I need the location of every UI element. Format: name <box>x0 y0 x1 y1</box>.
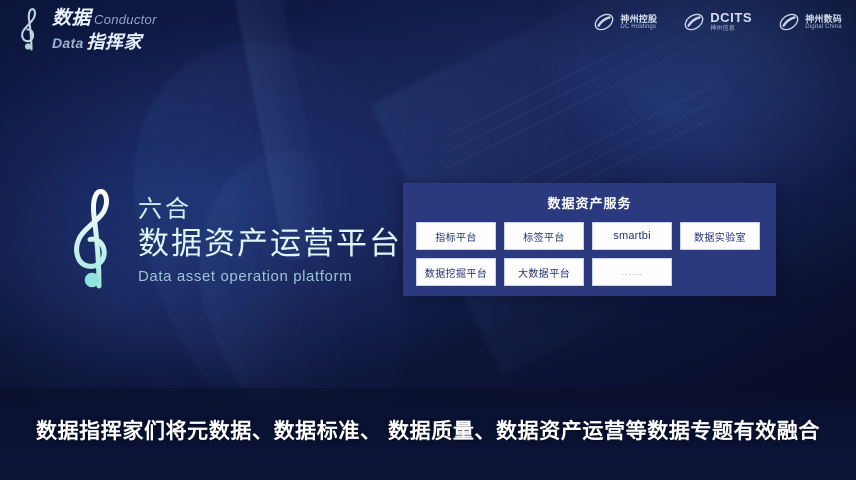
brand-en-bottom: Data <box>52 36 84 50</box>
partner-name-cn: 神州数码 <box>805 14 842 24</box>
treble-clef-icon <box>14 6 48 52</box>
partner-logo-text: DCITS 神州信息 <box>710 11 752 32</box>
hero-title-block: 六合 数据资产运营平台 Data asset operation platfor… <box>66 186 402 294</box>
treble-clef-icon <box>66 186 128 294</box>
service-tile[interactable]: 大数据平台 <box>504 258 584 286</box>
swoosh-icon <box>593 11 615 33</box>
brand-line-1: 数据 Conductor <box>52 9 157 28</box>
hero-text: 六合 数据资产运营平台 Data asset operation platfor… <box>138 195 402 285</box>
partner-name-en: Digital China <box>805 24 842 31</box>
hero-line-1: 六合 <box>138 195 402 224</box>
partner-name-en: 神州信息 <box>710 26 752 33</box>
slide-caption: 数据指挥家们将元数据、数据标准、 数据质量、数据资产运营等数据专题有效融合 <box>0 415 856 445</box>
service-tile[interactable]: 数据实验室 <box>680 222 760 250</box>
partner-name-cn: 神州控股 <box>620 14 657 24</box>
presentation-slide: 数据 Conductor Data 指挥家 神州控股 DC Holdings <box>0 0 856 480</box>
brand-cn-bottom: 指挥家 <box>87 33 143 51</box>
brand-en-top: Conductor <box>94 13 157 26</box>
swoosh-icon <box>683 11 705 33</box>
brand-line-2: Data 指挥家 <box>52 33 157 51</box>
partner-name-cn: DCITS <box>710 11 752 26</box>
service-tile[interactable]: 标签平台 <box>504 222 584 250</box>
brand-logo: 数据 Conductor Data 指挥家 <box>14 6 157 52</box>
partner-logo-group: 神州控股 DC Holdings DCITS 神州信息 <box>593 11 842 33</box>
service-tile[interactable]: 指标平台 <box>416 222 496 250</box>
brand-wordmark: 数据 Conductor Data 指挥家 <box>52 7 157 51</box>
hero-line-2: 数据资产运营平台 <box>138 225 402 263</box>
service-tile-more[interactable]: ...... <box>592 258 672 286</box>
data-asset-service-panel: 数据资产服务 指标平台 标签平台 smartbi 数据实验室 数据挖掘平台 大数… <box>403 183 776 296</box>
swoosh-icon <box>778 11 800 33</box>
service-tile-grid: 指标平台 标签平台 smartbi 数据实验室 数据挖掘平台 大数据平台 ...… <box>403 212 776 286</box>
partner-logo-text: 神州数码 Digital China <box>805 14 842 31</box>
partner-logo-dc-holdings: 神州控股 DC Holdings <box>593 11 657 33</box>
partner-logo-text: 神州控股 DC Holdings <box>620 14 657 31</box>
service-tile[interactable]: 数据挖掘平台 <box>416 258 496 286</box>
brand-cn-top: 数据 <box>52 9 91 28</box>
top-bar: 数据 Conductor Data 指挥家 神州控股 DC Holdings <box>0 0 856 56</box>
hero-line-3: Data asset operation platform <box>138 268 402 285</box>
partner-logo-dcits: DCITS 神州信息 <box>683 11 752 33</box>
partner-logo-digital-china: 神州数码 Digital China <box>778 11 842 33</box>
partner-name-en: DC Holdings <box>620 24 657 31</box>
panel-title: 数据资产服务 <box>403 183 776 212</box>
service-tile[interactable]: smartbi <box>592 222 672 250</box>
